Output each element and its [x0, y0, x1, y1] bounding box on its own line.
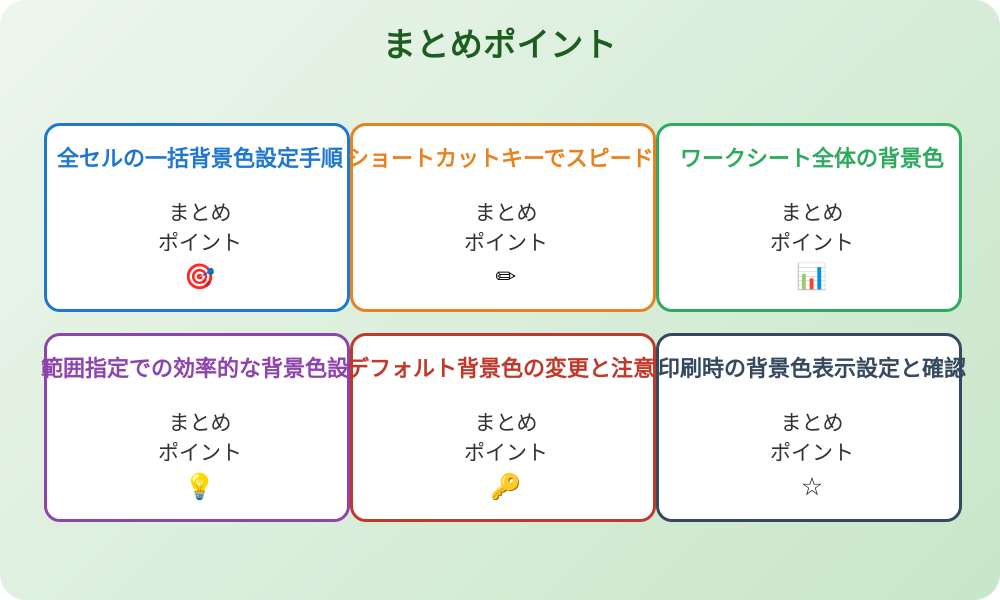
card-title: 全セルの一括背景色設定手順	[41, 148, 359, 172]
summary-card[interactable]: デフォルト背景色の変更と注意点まとめ ポイント🔑	[350, 333, 656, 522]
summary-card[interactable]: 全セルの一括背景色設定手順まとめ ポイント🎯	[44, 123, 350, 312]
card-body-text: まとめ ポイント	[47, 408, 353, 469]
card-title: 印刷時の背景色表示設定と確認	[653, 358, 971, 382]
card-title: ワークシート全体の背景色	[653, 148, 971, 172]
summary-card[interactable]: ショートカットキーでスピードアップまとめ ポイント✏	[350, 123, 656, 312]
card-title: 範囲指定での効率的な背景色設定	[41, 358, 359, 382]
star-icon: ☆	[659, 474, 965, 499]
card-body-text: まとめ ポイント	[659, 408, 965, 469]
target-icon: 🎯	[47, 264, 353, 289]
key-icon: 🔑	[353, 474, 659, 499]
summary-card[interactable]: 範囲指定での効率的な背景色設定まとめ ポイント💡	[44, 333, 350, 522]
card-title: ショートカットキーでスピードアップ	[347, 148, 665, 172]
card-body-text: まとめ ポイント	[353, 198, 659, 259]
card-title: デフォルト背景色の変更と注意点	[347, 358, 665, 382]
card-body-text: まとめ ポイント	[353, 408, 659, 469]
bar-chart-icon: 📊	[659, 264, 965, 289]
summary-card[interactable]: 印刷時の背景色表示設定と確認まとめ ポイント☆	[656, 333, 962, 522]
card-grid: 全セルの一括背景色設定手順まとめ ポイント🎯ショートカットキーでスピードアップま…	[44, 123, 956, 522]
lightbulb-icon: 💡	[47, 474, 353, 499]
card-body-text: まとめ ポイント	[659, 198, 965, 259]
page-title: まとめポイント	[0, 28, 1000, 61]
summary-card[interactable]: ワークシート全体の背景色まとめ ポイント📊	[656, 123, 962, 312]
pencil-icon: ✏	[353, 264, 659, 289]
summary-points-poster: まとめポイント 全セルの一括背景色設定手順まとめ ポイント🎯ショートカットキーで…	[0, 0, 1000, 600]
card-body-text: まとめ ポイント	[47, 198, 353, 259]
